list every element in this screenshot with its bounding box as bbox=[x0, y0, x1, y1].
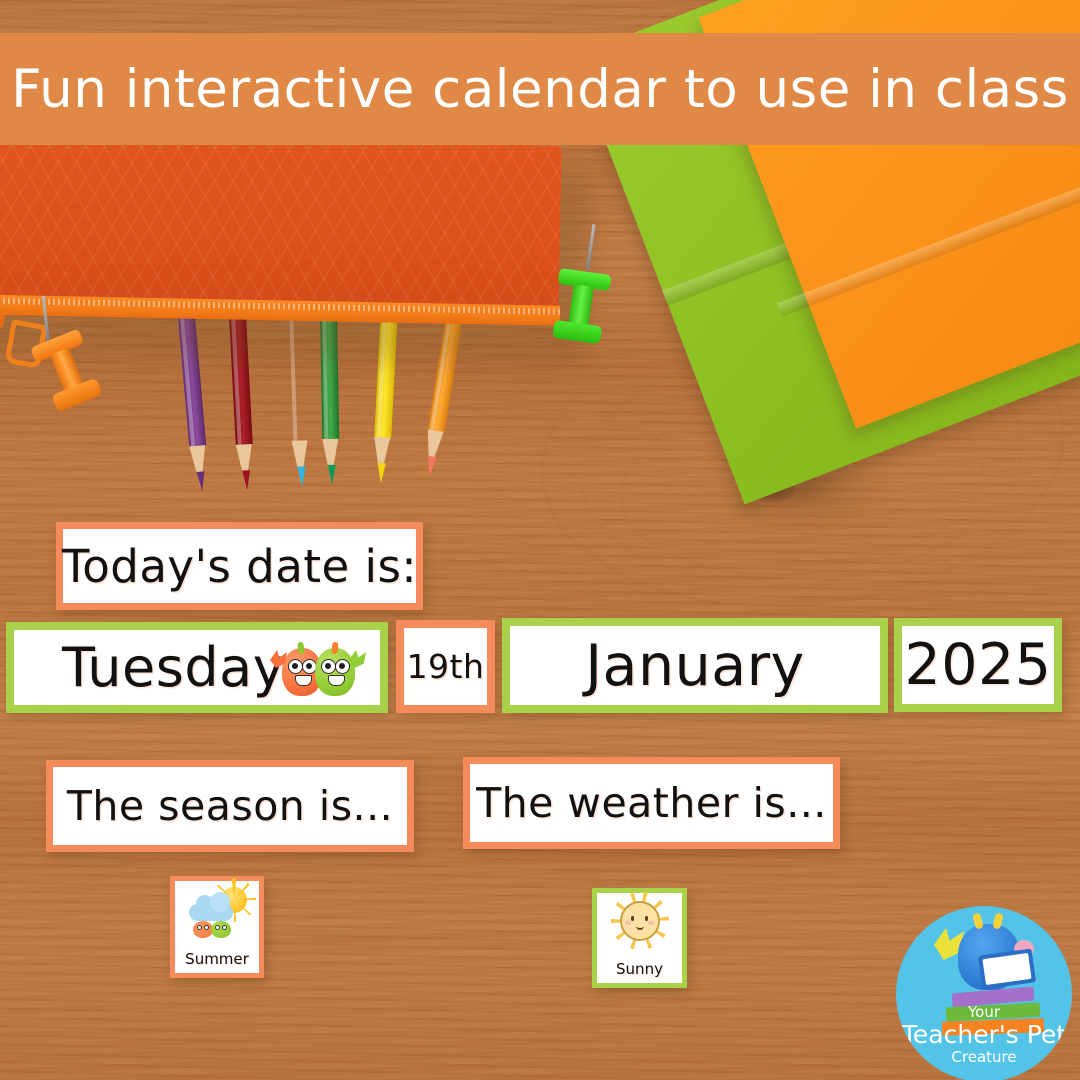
logo-book-icon bbox=[978, 948, 1036, 989]
two-monsters-icon bbox=[282, 638, 358, 700]
weather-prompt-card[interactable]: The weather is... bbox=[463, 757, 840, 849]
day-number-text: 19th bbox=[407, 647, 485, 686]
logo-line-3: Creature bbox=[896, 1050, 1072, 1065]
title-banner-text: Fun interactive calendar to use in class bbox=[11, 59, 1069, 120]
todays-date-prompt-text: Today's date is: bbox=[62, 540, 417, 593]
season-prompt-text: The season is... bbox=[67, 782, 393, 830]
season-value-text: Summer bbox=[185, 950, 249, 968]
month-text: January bbox=[585, 633, 805, 699]
season-value-card[interactable]: Summer bbox=[170, 876, 264, 978]
brand-logo[interactable]: Your Teacher's Pet Creature bbox=[896, 906, 1072, 1080]
weather-value-card[interactable]: Sunny bbox=[592, 888, 687, 988]
year-card[interactable]: 2025 bbox=[894, 618, 1062, 712]
weekday-text: Tuesday bbox=[62, 636, 285, 699]
month-card[interactable]: January bbox=[502, 618, 888, 713]
weather-value-text: Sunny bbox=[616, 960, 663, 978]
year-text: 2025 bbox=[904, 632, 1051, 698]
green-monster-icon bbox=[315, 648, 355, 696]
day-number-card[interactable]: 19th bbox=[396, 620, 495, 713]
logo-line-1: Your bbox=[896, 1005, 1072, 1020]
season-prompt-card[interactable]: The season is... bbox=[46, 760, 414, 852]
smiling-sun-icon bbox=[597, 897, 682, 959]
logo-line-2: Teacher's Pet bbox=[896, 1022, 1072, 1048]
weather-prompt-text: The weather is... bbox=[476, 779, 827, 827]
cloud-icon bbox=[189, 904, 233, 921]
title-banner: Fun interactive calendar to use in class bbox=[0, 33, 1080, 145]
poster-canvas: Today's date is: Tuesday 19th January 20… bbox=[0, 0, 1080, 1080]
todays-date-prompt-card[interactable]: Today's date is: bbox=[56, 522, 423, 610]
sun-cloud-monsters-icon bbox=[175, 885, 259, 947]
